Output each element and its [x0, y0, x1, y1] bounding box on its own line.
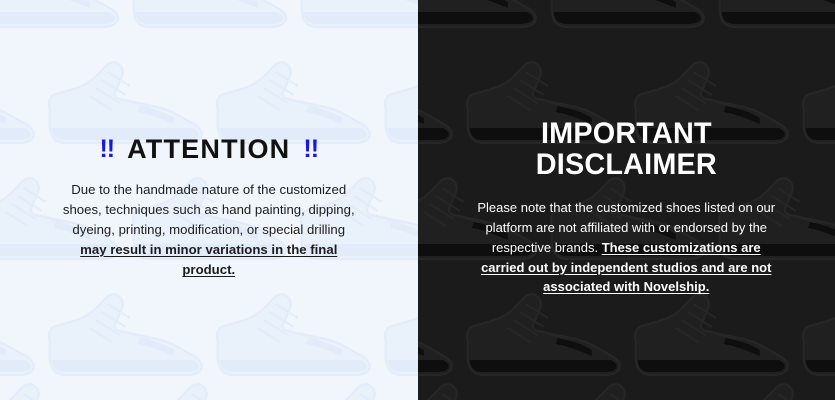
disclaimer-heading: IMPORTANT DISCLAIMER — [536, 118, 717, 180]
attention-body: Due to the handmade nature of the custom… — [59, 180, 359, 280]
attention-bang-right-icon: !! — [303, 137, 318, 162]
disclaimer-heading-line-2: DISCLAIMER — [536, 148, 717, 181]
attention-body-emphasis: may result in minor variations in the fi… — [80, 242, 337, 277]
attention-body-regular: Due to the handmade nature of the custom… — [63, 182, 355, 237]
disclaimer-body: Please note that the customized shoes li… — [470, 198, 782, 297]
disclaimer-heading-line-1: IMPORTANT — [541, 117, 712, 150]
disclaimer-banner: !! ATTENTION !! Due to the handmade natu… — [0, 0, 835, 400]
attention-heading: !! ATTENTION !! — [99, 136, 318, 163]
disclaimer-content: IMPORTANT DISCLAIMER Please note that th… — [418, 0, 835, 297]
attention-heading-text: ATTENTION — [127, 136, 290, 163]
attention-panel: !! ATTENTION !! Due to the handmade natu… — [0, 0, 418, 400]
attention-bang-left-icon: !! — [99, 137, 114, 162]
attention-content: !! ATTENTION !! Due to the handmade natu… — [0, 0, 418, 280]
disclaimer-panel: IMPORTANT DISCLAIMER Please note that th… — [418, 0, 835, 400]
